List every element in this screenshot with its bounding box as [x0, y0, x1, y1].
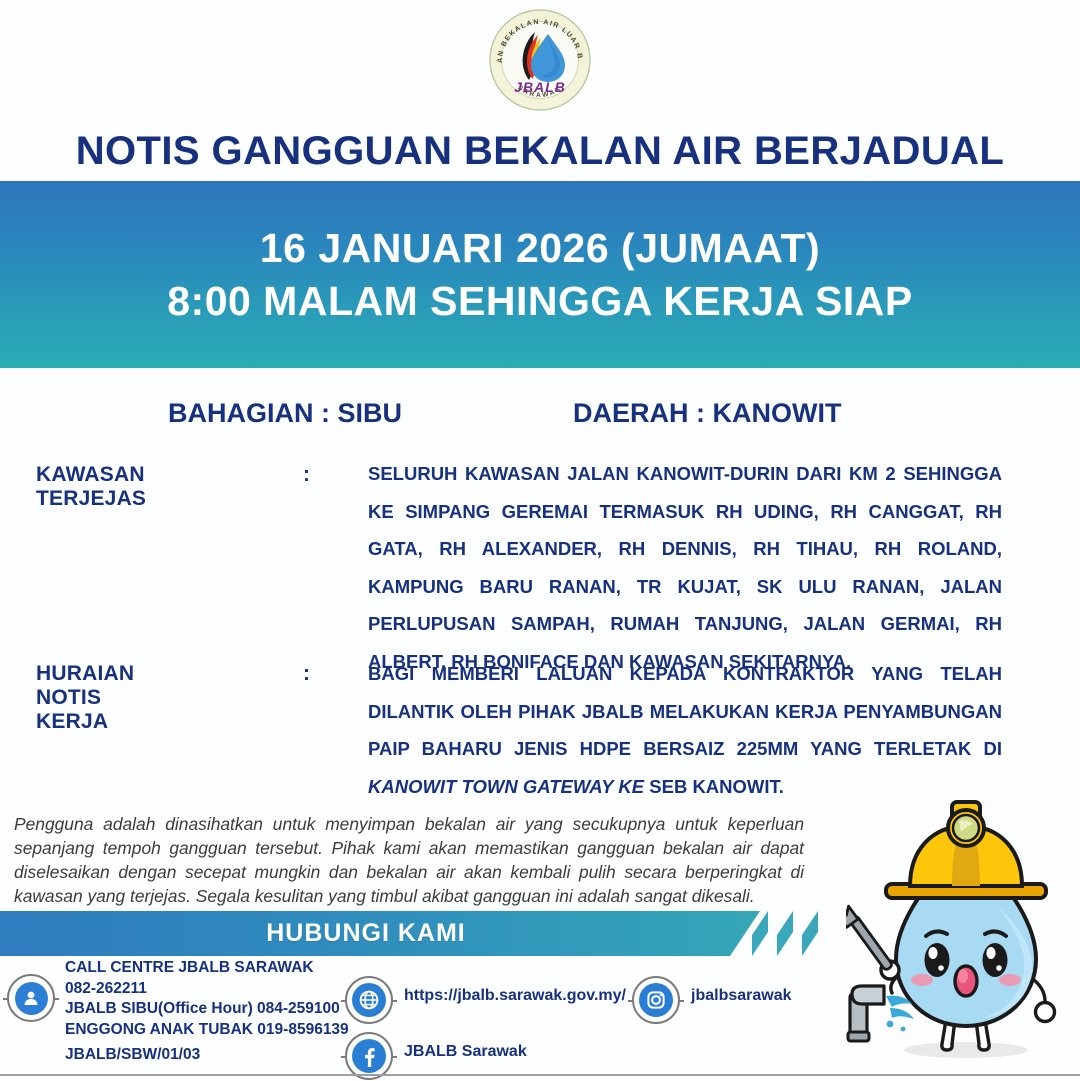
call-centre-line2: 082-262211 [65, 979, 349, 1000]
call-centre-line3: JBALB SIBU(Office Hour) 084-259100 [65, 999, 349, 1020]
facebook-handle[interactable]: JBALB Sarawak [404, 1043, 527, 1061]
work-desc-italic: KANOWIT TOWN GATEWAY KE [368, 776, 644, 797]
reference-number: JBALB/SBW/01/03 [65, 1046, 200, 1064]
work-description-value: BAGI MEMBERI LALUAN KEPADA KONTRAKTOR YA… [368, 655, 1002, 805]
affected-area-colon: : [303, 463, 310, 487]
disclaimer-text: Pengguna adalah dinasihatkan untuk menyi… [14, 812, 804, 908]
division-row: BAHAGIAN : SIBU DAERAH : KANOWIT [0, 398, 1080, 442]
date-band: 16 JANUARI 2026 (JUMAAT) 8:00 MALAM SEHI… [0, 181, 1080, 368]
person-icon [7, 974, 55, 1022]
work-description-colon: : [303, 662, 310, 686]
globe-icon[interactable] [345, 976, 393, 1024]
work-desc-part1: BAGI MEMBERI LALUAN KEPADA KONTRAKTOR YA… [368, 663, 1002, 759]
banner-slash-2-icon [777, 911, 793, 956]
outage-time: 8:00 MALAM SEHINGGA KERJA SIAP [167, 275, 913, 327]
banner-slash-3-icon [802, 911, 818, 956]
page-title: NOTIS GANGGUAN BEKALAN AIR BERJADUAL [0, 122, 1080, 180]
work-description-label: HURAIAN NOTIS KERJA [36, 662, 134, 734]
affected-area-value: SELURUH KAWASAN JALAN KANOWIT-DURIN DARI… [368, 455, 1002, 680]
website-url[interactable]: https://jbalb.sarawak.gov.my/ [404, 987, 626, 1005]
jbalb-logo: JABATAN BEKALAN AIR LUAR BANDAR SARAWAK … [488, 8, 592, 112]
facebook-icon[interactable] [345, 1032, 393, 1080]
call-centre-text: CALL CENTRE JBALB SARAWAK 082-262211 JBA… [65, 958, 349, 1040]
work-desc-part2: SEB KANOWIT. [644, 776, 784, 797]
daerah-label: DAERAH : KANOWIT [573, 398, 841, 429]
call-centre-line1: CALL CENTRE JBALB SARAWAK [65, 958, 349, 979]
water-drop-mascot [846, 788, 1080, 1076]
svg-text:JBALB: JBALB [514, 79, 566, 95]
instagram-icon[interactable] [632, 976, 680, 1024]
contact-banner-body: HUBUNGI KAMI [0, 911, 760, 956]
outage-date: 16 JANUARI 2026 (JUMAAT) [260, 222, 820, 274]
call-centre-line4: ENGGONG ANAK TUBAK 019-8596139 [65, 1020, 349, 1041]
bahagian-label: BAHAGIAN : SIBU [168, 398, 402, 429]
instagram-handle[interactable]: jbalbsarawak [691, 987, 792, 1005]
notice-poster: JABATAN BEKALAN AIR LUAR BANDAR SARAWAK … [0, 0, 1080, 1080]
affected-area-label: KAWASAN TERJEJAS [36, 463, 146, 511]
contact-banner-title: HUBUNGI KAMI [266, 919, 466, 948]
logo-container: JABATAN BEKALAN AIR LUAR BANDAR SARAWAK … [0, 6, 1080, 114]
